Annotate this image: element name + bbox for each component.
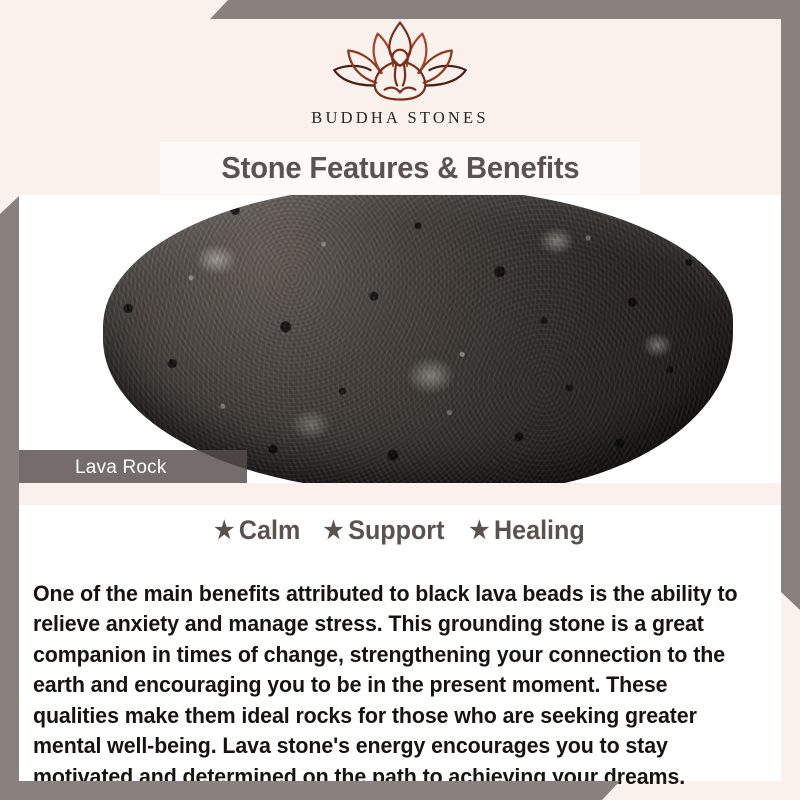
star-icon: ★ [324, 517, 344, 544]
star-icon: ★ [470, 517, 490, 544]
lotus-meditating-figure-icon [330, 18, 470, 104]
keyword-support-label: Support [348, 515, 444, 545]
rock-shape [103, 195, 733, 483]
rock-texture-grain [103, 195, 733, 483]
frame-left-bar [0, 196, 19, 800]
brand-name: BUDDHA STONES [0, 108, 800, 128]
infographic-page: BUDDHA STONES Stone Features & Benefits … [0, 0, 800, 800]
lava-rock-photo [19, 195, 781, 483]
keyword-calm: ★Calm [214, 515, 300, 546]
stone-name-label: Lava Rock [19, 457, 167, 479]
brand-logo: BUDDHA STONES [0, 18, 800, 128]
frame-right-bar [781, 0, 800, 610]
frame-bottom-bar [0, 781, 620, 800]
divider-strip [19, 483, 781, 505]
star-icon: ★ [214, 517, 234, 544]
page-title: Stone Features & Benefits [221, 150, 579, 186]
frame-top-bar [210, 0, 800, 19]
keyword-calm-label: Calm [239, 515, 300, 545]
description-text: One of the main benefits attributed to b… [33, 579, 747, 793]
keyword-healing-label: Healing [494, 515, 585, 545]
header-area: BUDDHA STONES Stone Features & Benefits [0, 0, 800, 196]
title-banner: Stone Features & Benefits [160, 142, 640, 194]
stone-name-badge: Lava Rock [19, 450, 247, 485]
keyword-support: ★Support [324, 515, 445, 546]
keyword-row: ★Calm★Support★Healing [19, 515, 781, 546]
keyword-healing: ★Healing [470, 515, 585, 546]
